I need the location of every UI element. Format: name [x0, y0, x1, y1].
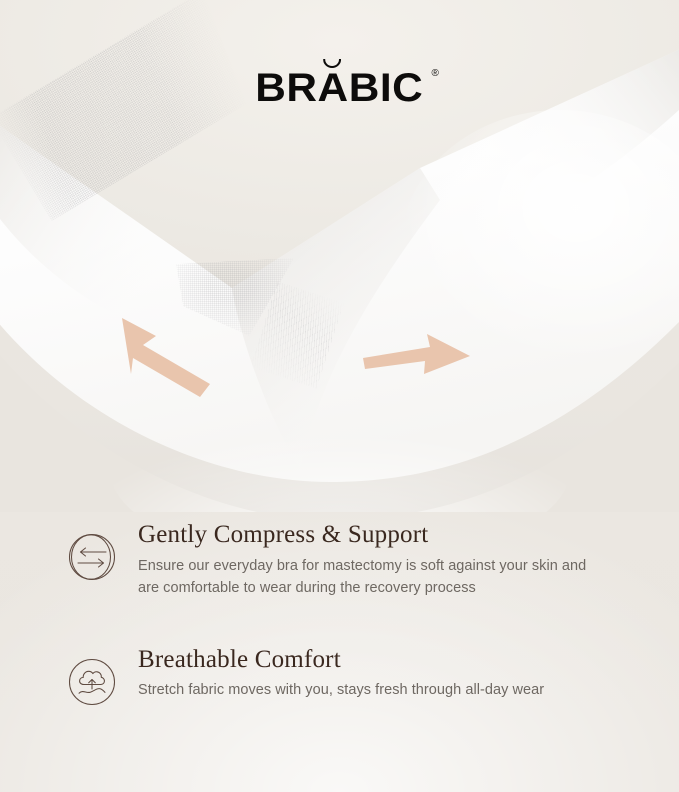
feature-list: Gently Compress & Support Ensure our eve… [0, 520, 679, 708]
feature-title: Gently Compress & Support [138, 520, 635, 550]
brand-wordmark: BRABIC® [255, 68, 423, 108]
product-feature-panel: BRABIC® Gently Compress & Support Ensure… [0, 0, 679, 792]
wordmark-part-2: BIC [349, 66, 424, 110]
wordmark-part-1: BR [255, 66, 317, 110]
feature-text-block: Breathable Comfort Stretch fabric moves … [138, 645, 635, 702]
feature-title: Breathable Comfort [138, 645, 635, 675]
icon-inner-ellipse [72, 535, 111, 579]
breathable-cloud-icon [66, 656, 118, 708]
wordmark-accent-letter: A [318, 66, 349, 110]
compress-arrows-icon [66, 531, 118, 583]
feature-text-block: Gently Compress & Support Ensure our eve… [138, 520, 635, 599]
feature-description: Stretch fabric moves with you, stays fre… [138, 679, 608, 701]
feature-item-breathable-comfort: Breathable Comfort Stretch fabric moves … [66, 645, 635, 708]
feature-item-compress-support: Gently Compress & Support Ensure our eve… [66, 520, 635, 599]
feature-description: Ensure our everyday bra for mastectomy i… [138, 555, 608, 599]
registered-trademark-icon: ® [432, 69, 439, 79]
brand-logo: BRABIC® [0, 68, 679, 108]
icon-outer-circle [70, 535, 115, 580]
